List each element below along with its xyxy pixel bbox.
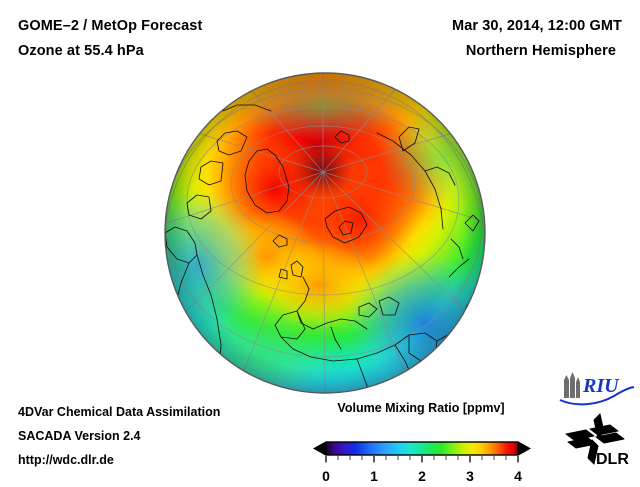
version-label: SACADA Version 2.4 — [18, 424, 318, 448]
dlr-wordmark: DLR — [596, 451, 629, 468]
colorbar-tick-3: 3 — [466, 468, 474, 484]
riu-wordmark: RIU — [582, 375, 620, 397]
footer-credits: 4DVar Chemical Data Assimilation SACADA … — [18, 400, 318, 472]
colorbar-tick-labels: 0 1 2 3 4 — [305, 467, 545, 487]
globe-map — [163, 71, 487, 395]
colorbar-block: Volume Mixing Ratio [ppmv] — [305, 400, 545, 487]
instrument-title: GOME–2 / MetOp Forecast — [18, 14, 318, 39]
colorbar-tick-4: 4 — [514, 468, 522, 484]
colorbar-title: Volume Mixing Ratio [ppmv] — [308, 400, 534, 416]
colorbar-over-arrow — [519, 442, 532, 456]
orthographic-projection — [163, 71, 487, 395]
colorbar-ticks — [326, 456, 518, 463]
colorbar-under-arrow — [313, 442, 326, 456]
riu-logo-mark: RIU — [556, 370, 636, 408]
hemisphere-label: Northern Hemisphere — [322, 39, 622, 64]
colorbar — [305, 421, 545, 469]
colorbar-tick-1: 1 — [370, 468, 378, 484]
website-url: http://wdc.dlr.de — [18, 448, 318, 472]
dlr-logo: DLR — [560, 412, 636, 470]
dlr-logo-mark: DLR — [560, 412, 636, 470]
colorbar-gradient — [326, 442, 518, 455]
assimilation-label: 4DVar Chemical Data Assimilation — [18, 400, 318, 424]
product-subtitle: Ozone at 55.4 hPa — [18, 39, 318, 64]
colorbar-tick-2: 2 — [418, 468, 426, 484]
riu-tower-icon — [564, 372, 580, 398]
header-right-block: Mar 30, 2014, 12:00 GMT Northern Hemisph… — [322, 14, 622, 64]
header-left-block: GOME–2 / MetOp Forecast Ozone at 55.4 hP… — [18, 14, 318, 64]
timestamp-label: Mar 30, 2014, 12:00 GMT — [322, 14, 622, 39]
colorbar-tick-0: 0 — [322, 468, 330, 484]
riu-logo: RIU — [556, 370, 636, 408]
